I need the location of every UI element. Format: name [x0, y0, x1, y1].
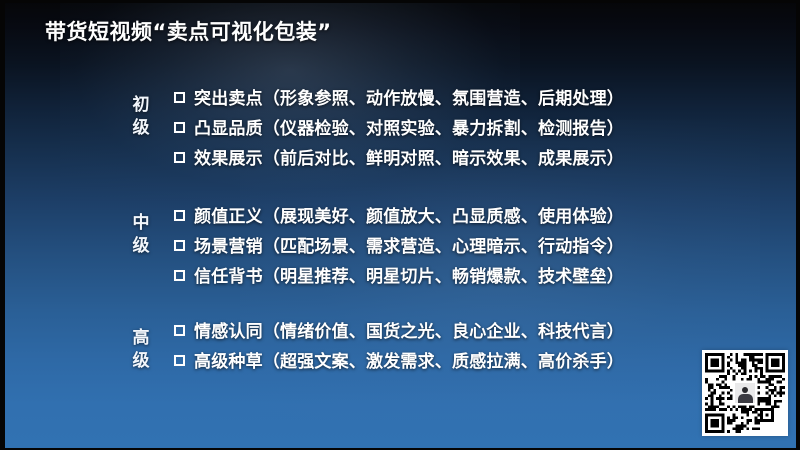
level-label-char: 初 [108, 94, 174, 117]
hollow-square-bullet-icon [174, 122, 185, 133]
bullet-list-primary: 突出卖点（形象参照、动作放慢、氛围营造、后期处理） 凸显品质（仪器检验、对照实验… [174, 84, 624, 174]
hollow-square-bullet-icon [174, 355, 185, 366]
slide-canvas: 带货短视频“卖点可视化包装” 初 级 突出卖点（形象参照、动作放慢、氛围营造、后… [0, 0, 800, 450]
hollow-square-bullet-icon [174, 270, 185, 281]
level-label-char: 级 [108, 350, 174, 373]
list-item: 情感认同（情绪价值、国货之光、良心企业、科技代言） [174, 317, 624, 347]
hollow-square-bullet-icon [174, 240, 185, 251]
list-item-label: 突出卖点（形象参照、动作放慢、氛围营造、后期处理） [194, 84, 624, 109]
list-item: 场景营销（匹配场景、需求营造、心理暗示、行动指令） [174, 232, 624, 262]
level-label-intermediate: 中 级 [108, 202, 174, 258]
list-item-label: 颜值正义（展现美好、颜值放大、凸显质感、使用体验） [194, 202, 624, 227]
list-item: 信任背书（明星推荐、明星切片、畅销爆款、技术壁垒） [174, 262, 624, 292]
list-item-label: 效果展示（前后对比、鲜明对照、暗示效果、成果展示） [194, 144, 624, 169]
list-item: 颜值正义（展现美好、颜值放大、凸显质感、使用体验） [174, 202, 624, 232]
list-item: 高级种草（超强文案、激发需求、质感拉满、高价杀手） [174, 347, 624, 377]
level-label-char: 中 [108, 212, 174, 235]
list-item-label: 凸显品质（仪器检验、对照实验、暴力拆割、检测报告） [194, 114, 624, 139]
level-group-advanced: 高 级 情感认同（情绪价值、国货之光、良心企业、科技代言） 高级种草（超强文案、… [108, 317, 624, 377]
slide-title: 带货短视频“卖点可视化包装” [45, 16, 332, 46]
level-group-intermediate: 中 级 颜值正义（展现美好、颜值放大、凸显质感、使用体验） 场景营销（匹配场景、… [108, 202, 624, 292]
qr-code[interactable] [702, 350, 788, 436]
level-label-char: 高 [108, 327, 174, 350]
list-item: 突出卖点（形象参照、动作放慢、氛围营造、后期处理） [174, 84, 624, 114]
list-item: 效果展示（前后对比、鲜明对照、暗示效果、成果展示） [174, 144, 624, 174]
level-group-primary: 初 级 突出卖点（形象参照、动作放慢、氛围营造、后期处理） 凸显品质（仪器检验、… [108, 84, 624, 174]
hollow-square-bullet-icon [174, 325, 185, 336]
list-item: 凸显品质（仪器检验、对照实验、暴力拆割、检测报告） [174, 114, 624, 144]
hollow-square-bullet-icon [174, 152, 185, 163]
avatar-head [742, 387, 748, 393]
bullet-list-intermediate: 颜值正义（展现美好、颜值放大、凸显质感、使用体验） 场景营销（匹配场景、需求营造… [174, 202, 624, 292]
bullet-list-advanced: 情感认同（情绪价值、国货之光、良心企业、科技代言） 高级种草（超强文案、激发需求… [174, 317, 624, 377]
qr-code-matrix [705, 353, 785, 433]
level-label-advanced: 高 级 [108, 317, 174, 373]
qr-center-avatar [733, 381, 757, 405]
avatar-body [738, 394, 753, 404]
list-item-label: 信任背书（明星推荐、明星切片、畅销爆款、技术壁垒） [194, 262, 624, 287]
list-item-label: 场景营销（匹配场景、需求营造、心理暗示、行动指令） [194, 232, 624, 257]
list-item-label: 情感认同（情绪价值、国货之光、良心企业、科技代言） [194, 317, 624, 342]
level-label-primary: 初 级 [108, 84, 174, 140]
level-label-char: 级 [108, 117, 174, 140]
list-item-label: 高级种草（超强文案、激发需求、质感拉满、高价杀手） [194, 347, 624, 372]
level-label-char: 级 [108, 235, 174, 258]
hollow-square-bullet-icon [174, 92, 185, 103]
hollow-square-bullet-icon [174, 210, 185, 221]
